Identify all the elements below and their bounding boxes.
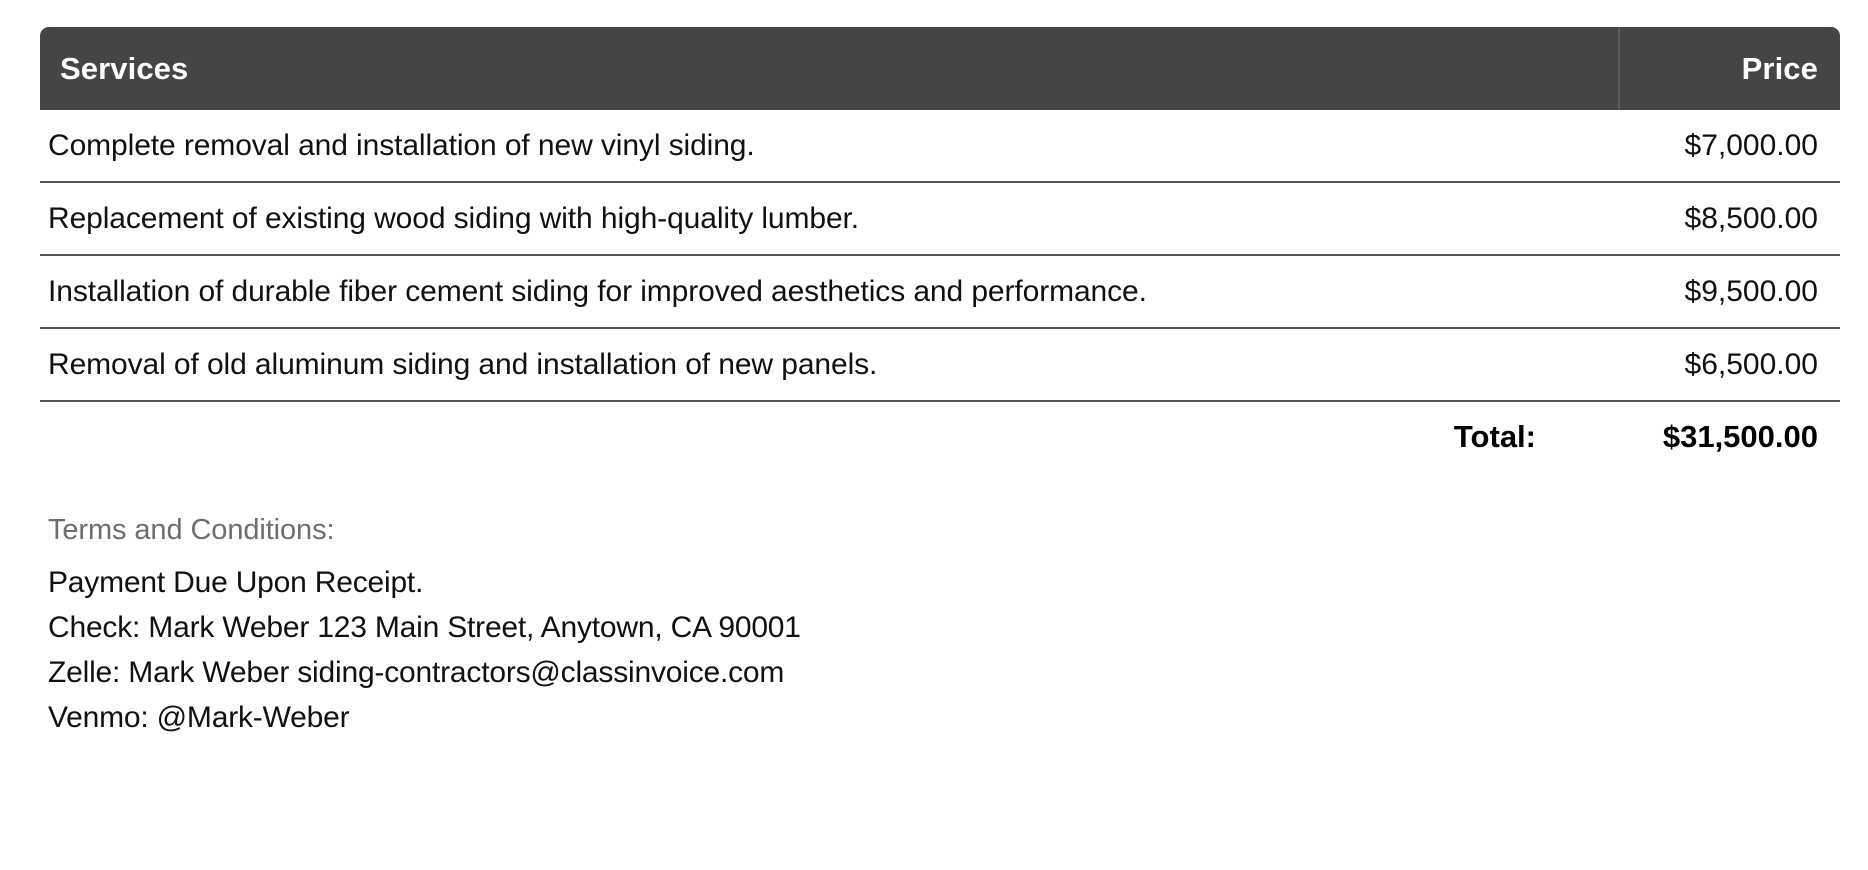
service-description: Replacement of existing wood siding with… [40, 183, 1618, 256]
terms-line-zelle: Zelle: Mark Weber siding-contractors@cla… [48, 650, 1840, 695]
service-price: $8,500.00 [1618, 183, 1840, 256]
total-amount: $31,500.00 [1618, 402, 1840, 472]
table-body: Complete removal and installation of new… [40, 110, 1840, 472]
table-row: Replacement of existing wood siding with… [40, 183, 1840, 256]
services-price-table: Services Price Complete removal and inst… [40, 27, 1840, 472]
terms-line-venmo: Venmo: @Mark-Weber [48, 695, 1840, 740]
column-header-price: Price [1618, 27, 1840, 110]
service-description: Complete removal and installation of new… [40, 110, 1618, 183]
table-row: Complete removal and installation of new… [40, 110, 1840, 183]
table-row: Removal of old aluminum siding and insta… [40, 329, 1840, 402]
total-row: Total: $31,500.00 [40, 402, 1840, 472]
terms-heading: Terms and Conditions: [48, 514, 1840, 547]
service-description: Installation of durable fiber cement sid… [40, 256, 1618, 329]
service-price: $9,500.00 [1618, 256, 1840, 329]
terms-line-check: Check: Mark Weber 123 Main Street, Anyto… [48, 605, 1840, 650]
service-description: Removal of old aluminum siding and insta… [40, 329, 1618, 402]
terms-line-payment-due: Payment Due Upon Receipt. [48, 560, 1840, 605]
terms-and-conditions-section: Terms and Conditions: Payment Due Upon R… [40, 514, 1840, 740]
table-row: Installation of durable fiber cement sid… [40, 256, 1840, 329]
total-label: Total: [40, 402, 1618, 472]
table-header-row: Services Price [40, 27, 1840, 110]
service-price: $7,000.00 [1618, 110, 1840, 183]
table-header: Services Price [40, 27, 1840, 110]
service-price: $6,500.00 [1618, 329, 1840, 402]
invoice-sheet: Services Price Complete removal and inst… [0, 0, 1868, 870]
column-header-services: Services [40, 27, 1618, 110]
